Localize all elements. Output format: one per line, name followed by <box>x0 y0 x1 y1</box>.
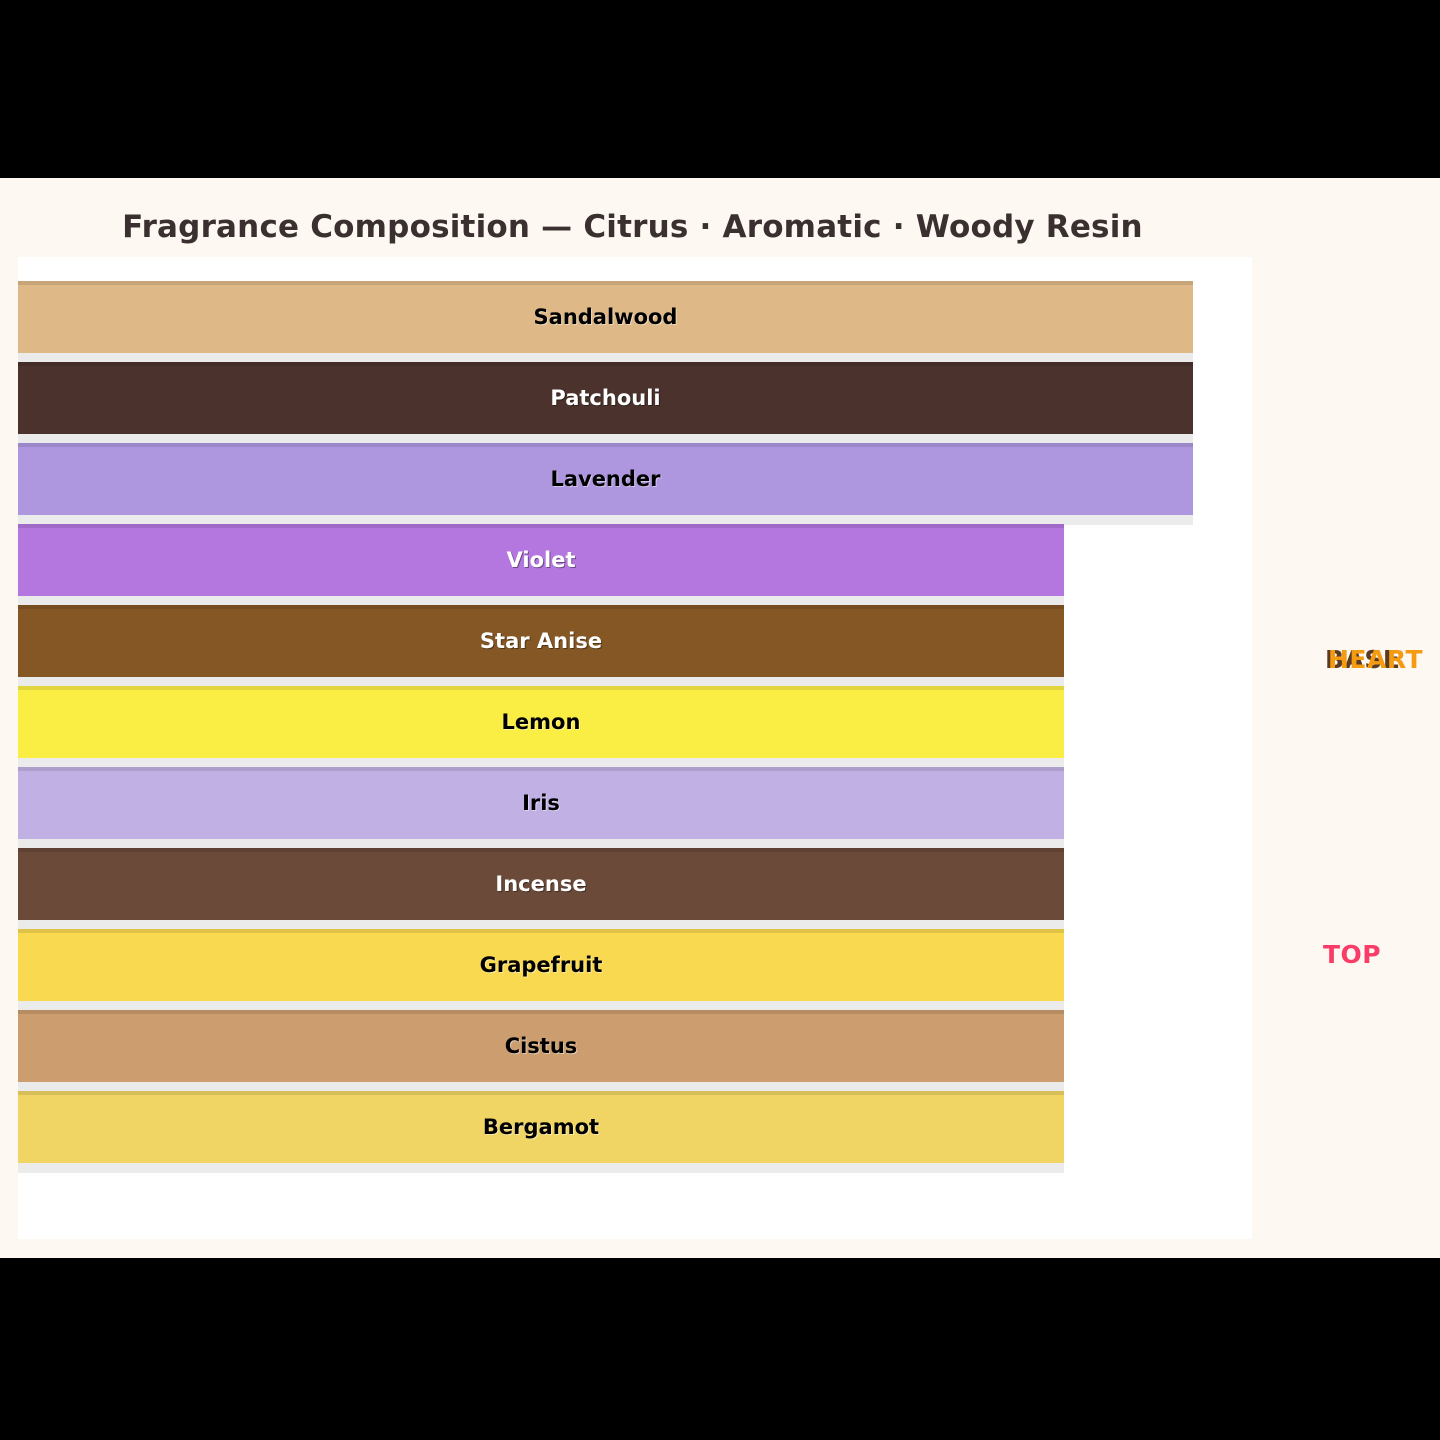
screenshot-stage: Fragrance Composition — Citrus · Aromati… <box>0 0 1440 1440</box>
bar-fill[interactable] <box>18 848 1064 920</box>
bar-fill[interactable] <box>18 524 1064 596</box>
bar-row[interactable]: Lavender <box>18 443 1193 519</box>
bar-row[interactable]: Lemon <box>18 686 1193 762</box>
bar-fill[interactable] <box>18 929 1064 1001</box>
chart-figure: Fragrance Composition — Citrus · Aromati… <box>0 178 1440 1258</box>
bar-fill[interactable] <box>18 1091 1064 1163</box>
page-title: Fragrance Composition — Citrus · Aromati… <box>0 209 1265 245</box>
bar-row[interactable]: Cistus <box>18 1010 1193 1086</box>
bar-fill[interactable] <box>18 767 1064 839</box>
bar-row[interactable]: Incense <box>18 848 1193 924</box>
bar-row[interactable]: Iris <box>18 767 1193 843</box>
bar-row[interactable]: Patchouli <box>18 362 1193 438</box>
bar-row[interactable]: Violet <box>18 524 1193 600</box>
bar-row[interactable]: Grapefruit <box>18 929 1193 1005</box>
bar-row[interactable]: Sandalwood <box>18 281 1193 357</box>
bar-fill[interactable] <box>18 362 1193 434</box>
stage-label-top: TOP <box>1323 940 1381 969</box>
plot-area: SandalwoodPatchouliLavenderVioletStar An… <box>18 257 1252 1239</box>
bar-fill[interactable] <box>18 605 1064 677</box>
bar-fill[interactable] <box>18 1010 1064 1082</box>
bar-row[interactable]: Bergamot <box>18 1091 1193 1167</box>
bar-fill[interactable] <box>18 686 1064 758</box>
bar-fill[interactable] <box>18 443 1193 515</box>
bar-row[interactable]: Star Anise <box>18 605 1193 681</box>
stage-label-heart: HEART <box>1328 645 1423 674</box>
bar-fill[interactable] <box>18 281 1193 353</box>
